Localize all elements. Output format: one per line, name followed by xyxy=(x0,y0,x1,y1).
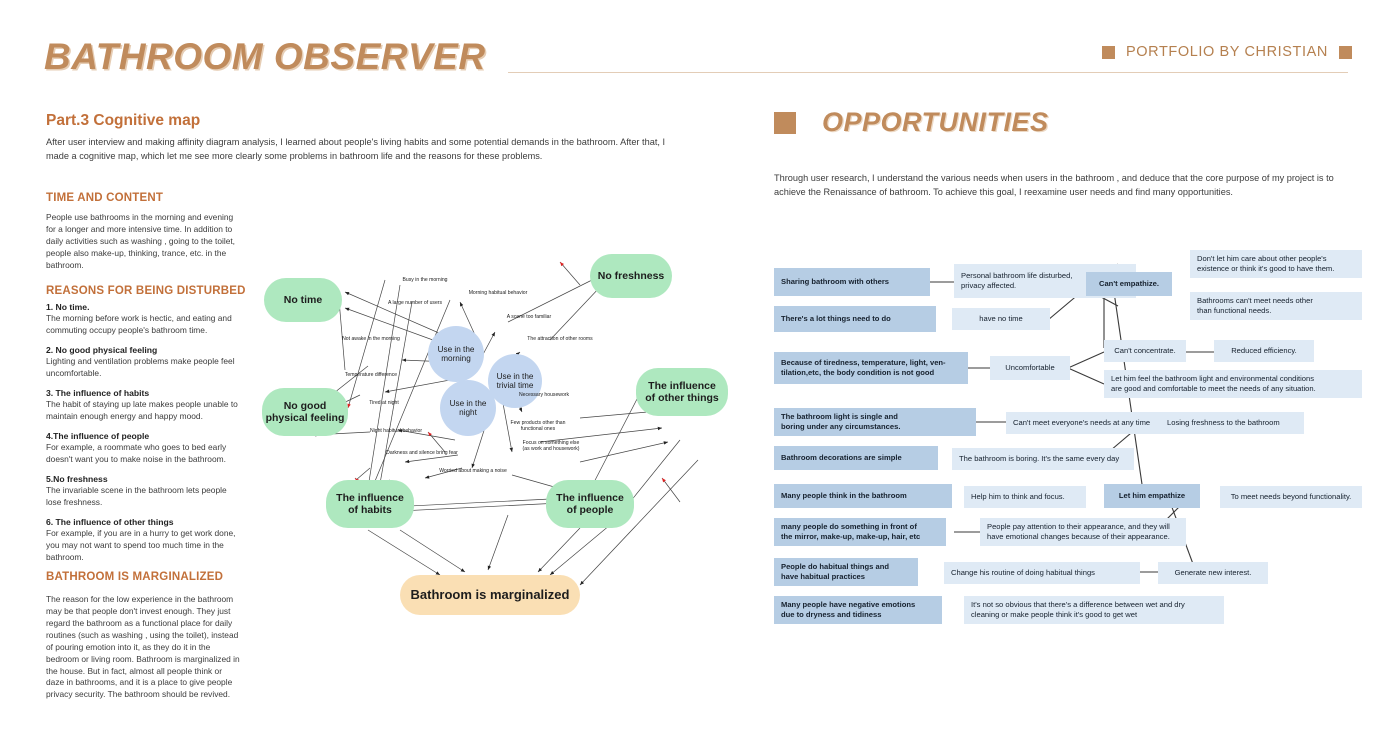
reason-item: 4.The influence of people For example, a… xyxy=(46,430,242,466)
reason-body: The invariable scene in the bathroom let… xyxy=(46,485,227,507)
marginalized-body: The reason for the low experience in the… xyxy=(46,594,242,701)
opportunity-cause-box: Sharing bathroom with others xyxy=(774,268,930,296)
reason-body: The morning before work is hectic, and e… xyxy=(46,313,232,335)
reason-title: 6. The influence of other things xyxy=(46,516,242,528)
reason-title: 1. No time. xyxy=(46,301,242,313)
reason-title: 4.The influence of people xyxy=(46,430,242,442)
opportunity-middle-box: Uncomfortable xyxy=(990,356,1070,380)
node-use-in-the-night: Use in the night xyxy=(440,380,496,436)
node-use-in-the-morning: Use in the morning xyxy=(428,326,484,382)
time-and-content-body: People use bathrooms in the morning and … xyxy=(46,212,242,272)
opportunity-outcome-box: Can't concentrate. xyxy=(1104,340,1186,362)
opportunity-cause-box: Bathroom decorations are simple xyxy=(774,446,938,470)
edge-label: Temperature difference xyxy=(328,372,414,378)
opportunities-diagram: Sharing bathroom with others Personal ba… xyxy=(774,240,1362,640)
portfolio-label: PORTFOLIO BY CHRISTIAN xyxy=(1126,44,1328,60)
page-title: BATHROOM OBSERVER xyxy=(44,36,486,78)
node-influence-other-things: The influence of other things xyxy=(636,368,728,416)
reason-title: 3. The influence of habits xyxy=(46,387,242,399)
node-no-time: No time xyxy=(264,278,342,322)
opportunity-cause-box: Because of tiredness, temperature, light… xyxy=(774,352,968,384)
edge-label: Focus on something else (as work and hou… xyxy=(506,440,596,453)
node-no-good-physical-feeling: No good physical feeling xyxy=(262,388,348,436)
square-marker-icon xyxy=(1339,46,1352,59)
edge-label: Worried about making a noise xyxy=(428,468,518,474)
part-title: Part.3 Cognitive map xyxy=(46,112,200,130)
opportunity-outcome-box: Bathrooms can't meet needs other than fu… xyxy=(1190,292,1362,320)
edge-label: Not awake in the morning xyxy=(328,336,414,342)
part-intro-text: After user interview and making affinity… xyxy=(46,136,686,163)
reason-title: 5.No freshness xyxy=(46,473,242,485)
node-no-freshness: No freshness xyxy=(590,254,672,298)
opportunity-cause-box: many people do something in front of the… xyxy=(774,518,946,546)
reason-title: 2. No good physical feeling xyxy=(46,344,242,356)
edge-label: A scene too familiar xyxy=(496,314,562,320)
edge-label: Darkness and silence bring fear xyxy=(372,450,472,456)
opportunity-cause-box: The bathroom light is single and boring … xyxy=(774,408,976,436)
opportunities-intro: Through user research, I understand the … xyxy=(774,172,1350,200)
time-and-content-heading: TIME AND CONTENT xyxy=(46,192,163,204)
edge-label: Night habitual behavior xyxy=(354,428,438,434)
edge-label: The attraction of other rooms xyxy=(516,336,604,342)
reason-item: 5.No freshness The invariable scene in t… xyxy=(46,473,242,509)
key-node-cant-empathize: Can't empathize. xyxy=(1086,272,1172,296)
edge-label: Morning habitual behavior xyxy=(456,290,540,296)
opportunity-middle-box: People pay attention to their appearance… xyxy=(980,518,1186,546)
reasons-heading: REASONS FOR BEING DISTURBED xyxy=(46,285,246,297)
reason-item: 6. The influence of other things For exa… xyxy=(46,516,242,564)
edge-label: Few products other than functional ones xyxy=(500,420,576,433)
reason-item: 3. The influence of habits The habit of … xyxy=(46,387,242,423)
opportunity-cause-box: There's a lot things need to do xyxy=(774,306,936,332)
opportunity-cause-box: People do habitual things and have habit… xyxy=(774,558,918,586)
header-portfolio-credit: PORTFOLIO BY CHRISTIAN xyxy=(1102,44,1352,60)
opportunity-middle-box: have no time xyxy=(952,308,1050,330)
opportunity-middle-box: Change his routine of doing habitual thi… xyxy=(944,562,1140,584)
edge-label: Necessary housework xyxy=(508,392,580,398)
square-marker-icon xyxy=(1102,46,1115,59)
node-influence-people: The influence of people xyxy=(546,480,634,528)
opportunity-outcome-box: Losing freshness to the bathroom xyxy=(1160,412,1304,434)
header-divider xyxy=(508,72,1348,73)
opportunity-middle-box: Can't meet everyone's needs at any time xyxy=(1006,412,1160,434)
marginalized-heading: BATHROOM IS MARGINALIZED xyxy=(46,571,223,583)
node-bathroom-is-marginalized: Bathroom is marginalized xyxy=(400,575,580,615)
cognitive-map-diagram: No time No freshness No good physical fe… xyxy=(250,240,730,640)
opportunity-middle-box: The bathroom is boring. It's the same ev… xyxy=(952,448,1134,470)
reason-body: Lighting and ventilation problems make p… xyxy=(46,356,235,378)
opportunity-middle-box: Help him to think and focus. xyxy=(964,486,1086,508)
reason-body: For example, a roommate who goes to bed … xyxy=(46,442,226,464)
opportunities-title: OPPORTUNITIES xyxy=(822,107,1049,138)
opportunity-outcome-box: Don't let him care about other people's … xyxy=(1190,250,1362,278)
reason-item: 2. No good physical feeling Lighting and… xyxy=(46,344,242,380)
square-marker-icon xyxy=(774,112,796,134)
node-influence-habits: The influence of habits xyxy=(326,480,414,528)
edge-label: Busy in the morning xyxy=(390,277,460,283)
portfolio-page: BATHROOM OBSERVER PORTFOLIO BY CHRISTIAN… xyxy=(0,0,1400,743)
key-node-let-him-empathize: Let him empathize xyxy=(1104,484,1200,508)
reason-body: The habit of staying up late makes peopl… xyxy=(46,399,238,421)
edge-label: A large number of users xyxy=(376,300,454,306)
reasons-list: 1. No time. The morning before work is h… xyxy=(46,301,242,571)
opportunity-middle-box: It's not so obvious that there's a diffe… xyxy=(964,596,1224,624)
edge-label: Tired at night xyxy=(356,400,412,406)
reason-body: For example, if you are in a hurry to ge… xyxy=(46,528,235,562)
opportunity-outcome-box: Reduced efficiency. xyxy=(1214,340,1314,362)
opportunity-outcome-box: Let him feel the bathroom light and envi… xyxy=(1104,370,1362,398)
node-use-in-the-trivial-time: Use in the trivial time xyxy=(488,354,542,408)
opportunity-outcome-box: Generate new interest. xyxy=(1158,562,1268,584)
opportunity-outcome-box: To meet needs beyond functionality. xyxy=(1220,486,1362,508)
opportunity-cause-box: Many people think in the bathroom xyxy=(774,484,952,508)
reason-item: 1. No time. The morning before work is h… xyxy=(46,301,242,337)
opportunity-cause-box: Many people have negative emotions due t… xyxy=(774,596,942,624)
